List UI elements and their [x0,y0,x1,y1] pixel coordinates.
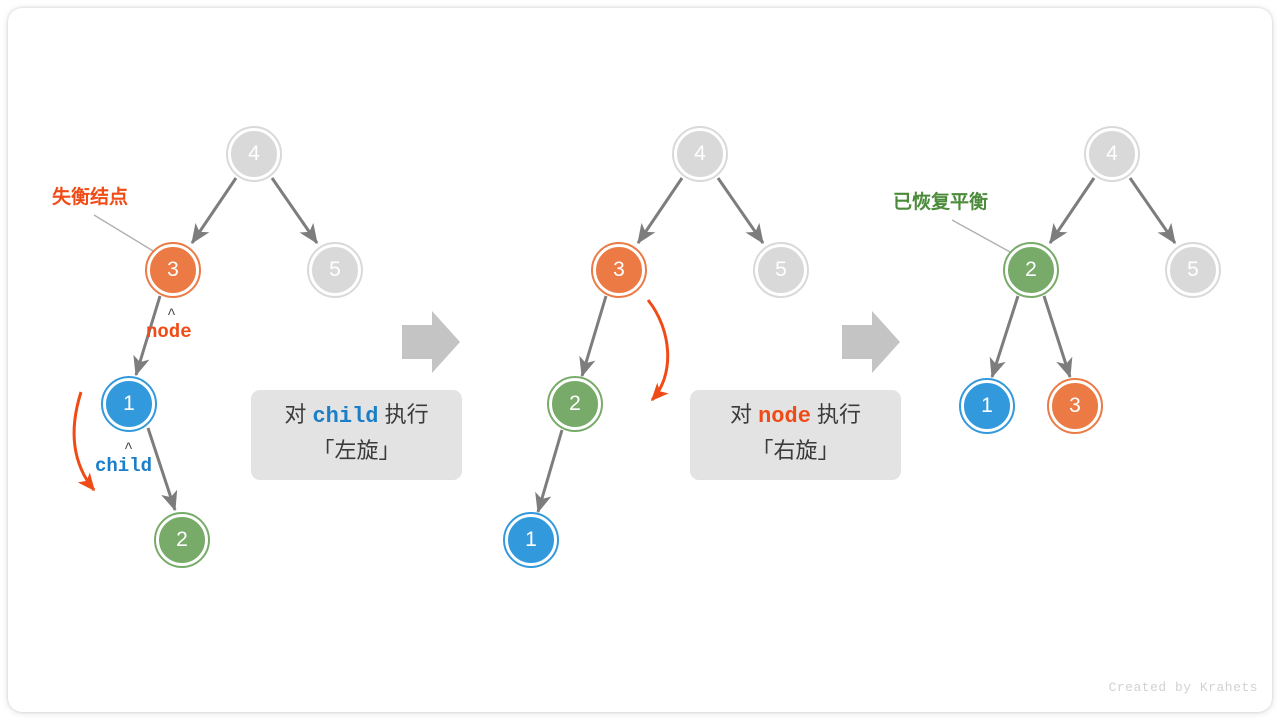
node-value: 2 [1025,259,1037,280]
node-value: 4 [694,143,706,164]
callout-unbalanced-node: 失衡结点 [52,182,128,209]
step-line-2: 「右旋」 [751,434,839,468]
node-value: 3 [167,259,179,280]
node-value: 5 [775,259,787,280]
tree-node-4[interactable]: 4 [1086,128,1138,180]
tree-node-4[interactable]: 4 [674,128,726,180]
tree-node-2[interactable]: 2 [156,514,208,566]
step-line-1: 对 node 执行 [730,398,861,434]
watermark-credit: Created by Krahets [1109,680,1258,695]
tree-node-3[interactable]: 3 [1049,380,1101,432]
node-value: 2 [569,393,581,414]
tree-node-2[interactable]: 2 [1005,244,1057,296]
step-suffix: 执行 [385,402,429,427]
step-prefix: 对 [284,402,306,427]
step-line-2: 「左旋」 [312,434,400,468]
node-value: 5 [1187,259,1199,280]
node-value: 4 [248,143,260,164]
step-variable: child [312,404,378,429]
node-value: 3 [1069,395,1081,416]
callout-balance-restored: 已恢复平衡 [893,187,988,214]
step-box-left-rotation: 对 child 执行 「左旋」 [251,390,462,480]
figure-canvas: 失衡结点 4 5 3 1 2 ^ node ^ child 对 child 执行… [0,0,1280,720]
tree-node-5[interactable]: 5 [309,244,361,296]
node-value: 1 [123,393,135,414]
tree-node-1[interactable]: 1 [505,514,557,566]
step-prefix: 对 [730,402,752,427]
tree-node-3[interactable]: 3 [593,244,645,296]
tree-node-1[interactable]: 1 [103,378,155,430]
step-line-1: 对 child 执行 [284,398,428,434]
caret-marker-child: ^ [124,441,133,456]
step-box-right-rotation: 对 node 执行 「右旋」 [690,390,901,480]
caret-marker-node: ^ [167,307,176,322]
node-value: 5 [329,259,341,280]
tree-node-5[interactable]: 5 [1167,244,1219,296]
var-label-child: child [95,455,152,477]
node-value: 1 [525,529,537,550]
step-suffix: 执行 [817,402,861,427]
tree-node-1[interactable]: 1 [961,380,1013,432]
tree-node-5[interactable]: 5 [755,244,807,296]
figure-card [8,8,1272,712]
tree-node-3[interactable]: 3 [147,244,199,296]
node-value: 2 [176,529,188,550]
step-variable: node [758,404,811,429]
tree-node-4[interactable]: 4 [228,128,280,180]
node-value: 1 [981,395,993,416]
node-value: 4 [1106,143,1118,164]
tree-node-2[interactable]: 2 [549,378,601,430]
var-label-node: node [146,321,192,343]
node-value: 3 [613,259,625,280]
